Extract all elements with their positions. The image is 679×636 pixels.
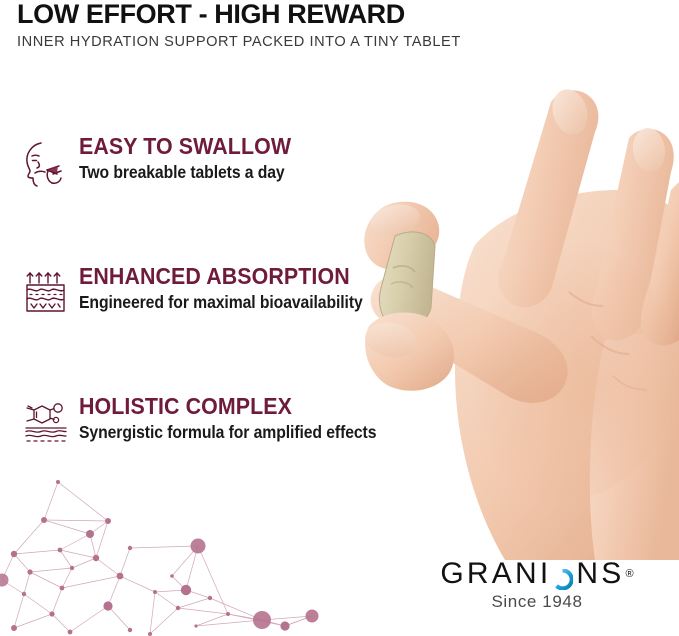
- feature-subtitle: Engineered for maximal bioavailability: [79, 289, 363, 313]
- page-title: LOW EFFORT - HIGH REWARD: [17, 0, 657, 27]
- feature-subtitle: Synergistic formula for amplified effect…: [79, 419, 376, 443]
- feature-item-easy-to-swallow: EASY TO SWALLOW Two breakable tablets a …: [0, 132, 400, 262]
- feature-title: HOLISTIC COMPLEX: [79, 394, 386, 419]
- molecular-network-graphic: [0, 468, 345, 636]
- feature-text-block: ENHANCED ABSORPTION Engineered for maxim…: [72, 262, 394, 313]
- molecule-complex-icon: [20, 398, 72, 450]
- brand-logo: GRANI NS ® Since 1948: [406, 558, 668, 612]
- feature-list: EASY TO SWALLOW Two breakable tablets a …: [0, 132, 400, 522]
- skin-layers-absorption-icon: [20, 268, 72, 320]
- registered-trademark-symbol: ®: [625, 558, 633, 590]
- logo-text-part-2: NS: [576, 558, 624, 590]
- product-infographic: LOW EFFORT - HIGH REWARD INNER HYDRATION…: [0, 0, 679, 636]
- hand-holding-tablet-photo: [355, 40, 679, 560]
- feature-text-block: EASY TO SWALLOW Two breakable tablets a …: [72, 132, 307, 183]
- logo-text-part-1: GRANI: [440, 558, 551, 590]
- feature-subtitle: Two breakable tablets a day: [79, 159, 285, 183]
- logo-o-ring-icon: [552, 565, 573, 586]
- logo-tagline: Since 1948: [406, 590, 668, 612]
- face-swallowing-tablet-icon: [20, 138, 72, 190]
- logo-wordmark: GRANI NS ®: [406, 558, 668, 590]
- feature-text-block: HOLISTIC COMPLEX Synergistic formula for…: [72, 392, 409, 443]
- feature-title: EASY TO SWALLOW: [79, 134, 291, 159]
- feature-title: ENHANCED ABSORPTION: [79, 264, 372, 289]
- feature-item-enhanced-absorption: ENHANCED ABSORPTION Engineered for maxim…: [0, 262, 400, 392]
